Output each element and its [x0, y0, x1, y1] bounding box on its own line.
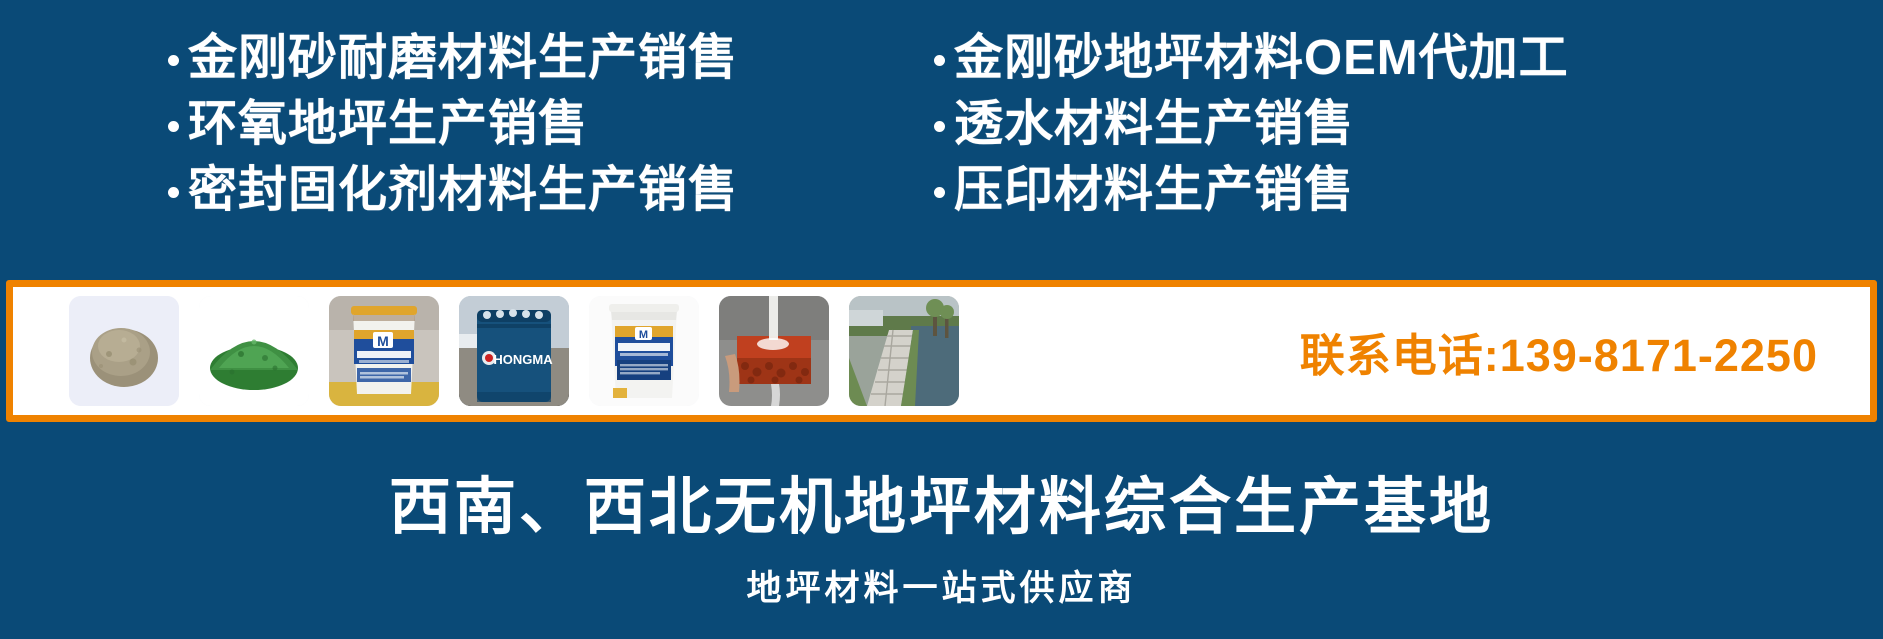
bullet-dot-icon	[934, 187, 945, 198]
feature-label: 金刚砂地坪材料OEM代加工	[954, 34, 1569, 84]
tagline: 地坪材料一站式供应商	[746, 560, 1136, 611]
svg-text:M: M	[377, 333, 389, 349]
product-thumbnail-list: M	[69, 296, 959, 406]
feature-item: 密封固化剂材料生产销售	[168, 166, 738, 216]
feature-column-right: 金刚砂地坪材料OEM代加工 透水材料生产销售 压印材料生产销售	[934, 34, 1569, 280]
bullet-dot-icon	[934, 121, 945, 132]
feature-label: 密封固化剂材料生产销售	[188, 166, 738, 216]
feature-label: 透水材料生产销售	[954, 100, 1354, 150]
svg-text:M: M	[639, 329, 648, 341]
feature-label: 环氧地坪生产销售	[188, 100, 588, 150]
feature-label: 金刚砂耐磨材料生产销售	[188, 34, 738, 84]
bullet-dot-icon	[168, 55, 179, 66]
permeable-concrete-block-photo	[719, 296, 829, 406]
grey-abrasive-powder-photo	[69, 296, 179, 406]
sealer-bucket-photo: M	[329, 296, 439, 406]
stamped-concrete-path-photo	[849, 296, 959, 406]
headline: 西南、西北无机地坪材料综合生产基地	[389, 456, 1494, 546]
promo-banner: 金刚砂耐磨材料生产销售 环氧地坪生产销售 密封固化剂材料生产销售 金刚砂地坪材料…	[0, 0, 1883, 639]
feature-item: 透水材料生产销售	[934, 100, 1569, 150]
green-powder-photo	[199, 296, 309, 406]
feature-column-left: 金刚砂耐磨材料生产销售 环氧地坪生产销售 密封固化剂材料生产销售	[168, 34, 738, 280]
contact-phone-label: 联系电话:139-8171-2250	[1300, 319, 1818, 384]
feature-item: 金刚砂地坪材料OEM代加工	[934, 34, 1569, 84]
hongma-blue-drum-photo: HONGMA	[459, 296, 569, 406]
epoxy-paint-bucket-photo: M	[589, 296, 699, 406]
svg-text:HONGMA: HONGMA	[493, 352, 553, 367]
feature-label: 压印材料生产销售	[954, 166, 1354, 216]
bottom-headline-block: 西南、西北无机地坪材料综合生产基地 地坪材料一站式供应商	[0, 422, 1883, 639]
feature-lists: 金刚砂耐磨材料生产销售 环氧地坪生产销售 密封固化剂材料生产销售 金刚砂地坪材料…	[0, 0, 1883, 280]
bullet-dot-icon	[168, 187, 179, 198]
feature-item: 环氧地坪生产销售	[168, 100, 738, 150]
feature-item: 压印材料生产销售	[934, 166, 1569, 216]
product-strip-panel: M	[6, 280, 1877, 422]
feature-item: 金刚砂耐磨材料生产销售	[168, 34, 738, 84]
bullet-dot-icon	[934, 55, 945, 66]
bullet-dot-icon	[168, 121, 179, 132]
